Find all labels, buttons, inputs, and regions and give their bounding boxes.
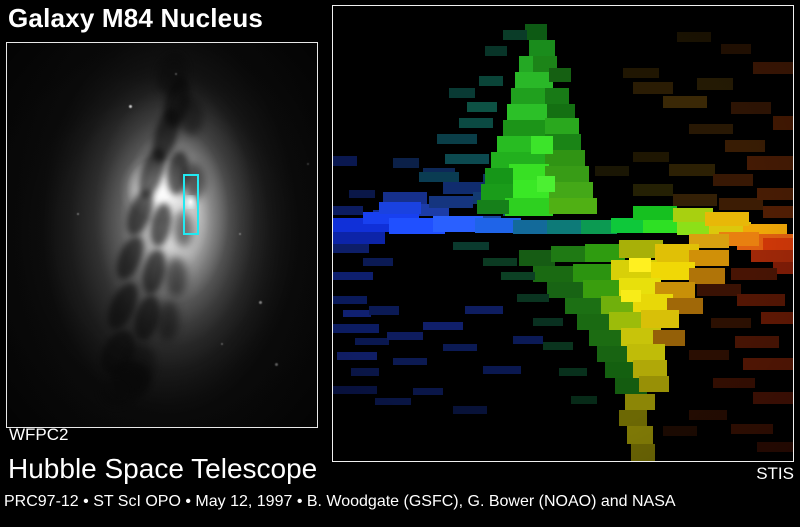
telescope-label: Hubble Space Telescope bbox=[8, 452, 317, 486]
spectrum-image bbox=[333, 6, 793, 461]
galaxy-image bbox=[7, 43, 317, 427]
credit-line: PRC97-12 • ST ScI OPO • May 12, 1997 • B… bbox=[4, 492, 676, 512]
image-vignette bbox=[7, 43, 317, 427]
stis-instrument-label: STIS bbox=[756, 464, 794, 484]
stis-spectrum-panel bbox=[332, 5, 794, 462]
wfpc2-image-panel bbox=[6, 42, 318, 428]
wfpc2-instrument-label: WFPC2 bbox=[9, 425, 69, 445]
spectrograph-slit-aperture bbox=[183, 174, 199, 235]
page-title: Galaxy M84 Nucleus bbox=[8, 2, 263, 34]
screenshot-root: Galaxy M84 Nucleus bbox=[0, 0, 800, 527]
